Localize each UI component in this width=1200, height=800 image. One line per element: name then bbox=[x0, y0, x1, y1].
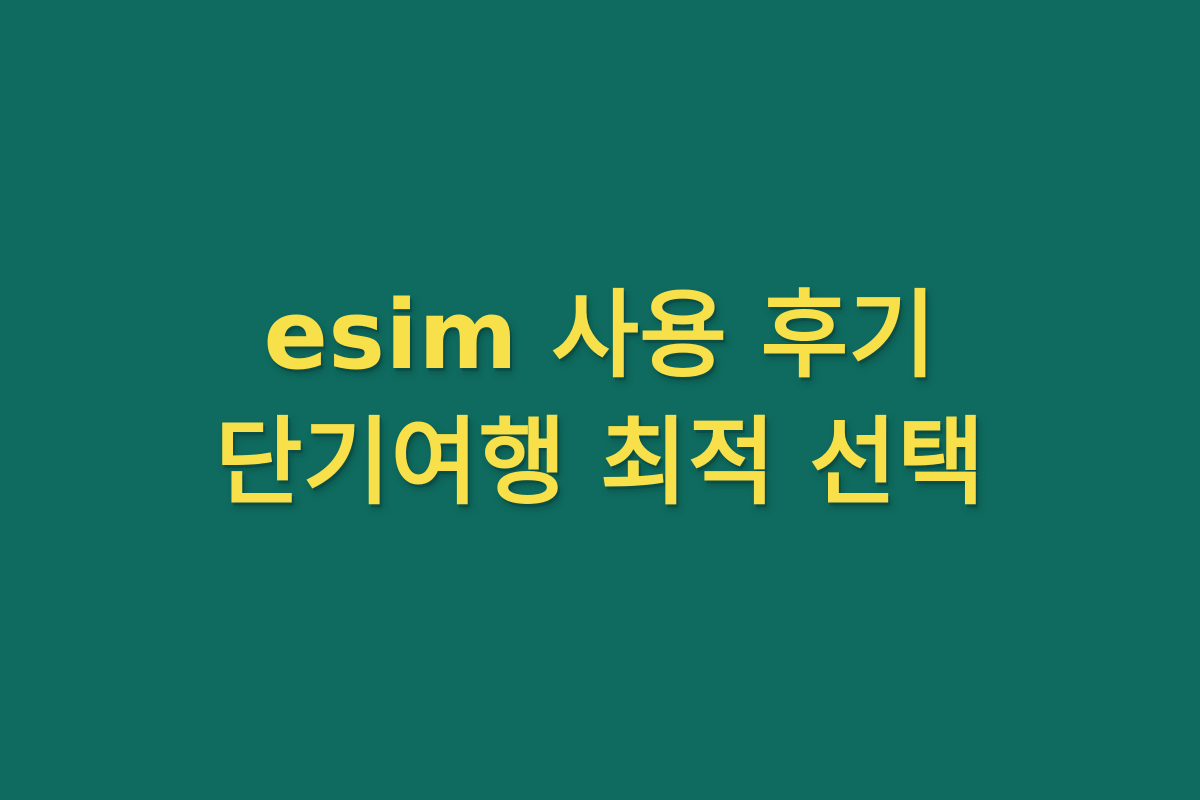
title-card: esim 사용 후기 단기여행 최적 선택 bbox=[0, 0, 1200, 800]
title-block: esim 사용 후기 단기여행 최적 선택 bbox=[95, 273, 1105, 528]
headline-text: esim 사용 후기 단기여행 최적 선택 bbox=[115, 273, 1085, 528]
